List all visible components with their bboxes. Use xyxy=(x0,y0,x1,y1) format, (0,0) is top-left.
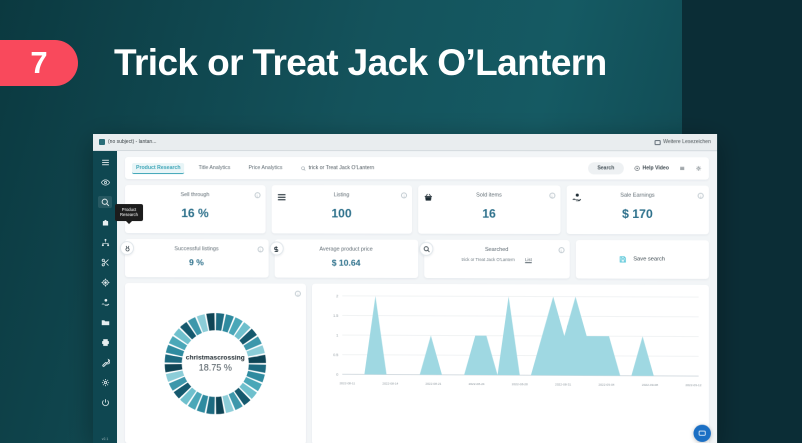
stat-card-sale-earnings[interactable]: Sale Earnings i $ 170 xyxy=(566,186,709,235)
stat-value: 16 xyxy=(424,207,554,221)
target-icon xyxy=(100,278,109,287)
hamburger-menu-icon xyxy=(100,158,109,167)
sidebar-item-shop[interactable] xyxy=(98,216,112,228)
x-tick-label: 2022-08-28 xyxy=(512,382,528,386)
browser-tab[interactable]: (no subject) - lantan... xyxy=(99,139,156,145)
favicon-icon xyxy=(99,139,105,145)
sidebar-item-product-research[interactable] xyxy=(98,196,112,208)
tab-product-research[interactable]: Product Research xyxy=(132,163,185,174)
stat-card-sold-items[interactable]: Sold items i 16 xyxy=(418,185,560,234)
x-tick-label: 2022-08-21 xyxy=(425,382,441,386)
bag-icon xyxy=(100,218,109,227)
stats-row-2: Successful listings i 9 % Average produc… xyxy=(125,239,709,279)
save-search-label: Save search xyxy=(633,256,665,262)
other-bookmarks-label: Weitere Lesezeichen xyxy=(663,139,711,145)
stat-card-searched[interactable]: Searched i trick or Treat Jack O'Lantern… xyxy=(424,240,569,279)
sidebar-version: v2.1 xyxy=(102,437,109,441)
navbar: Product Research Title Analytics Price A… xyxy=(125,157,709,180)
average-price-lead-icon xyxy=(269,241,283,255)
grid-line xyxy=(342,335,698,337)
stat-value: 16 % xyxy=(131,206,259,220)
y-tick-label: 0 xyxy=(336,373,338,377)
searched-subrow: trick or Treat Jack O'Lantern List xyxy=(430,257,563,262)
sidebar-item-tools[interactable] xyxy=(98,256,112,268)
searched-query: trick or Treat Jack O'Lantern xyxy=(462,257,515,262)
basket-icon xyxy=(423,192,433,202)
dollar-icon xyxy=(273,245,280,252)
tab-price-analytics[interactable]: Price Analytics xyxy=(244,163,286,173)
grid-line xyxy=(342,296,698,297)
y-tick-label: 1 xyxy=(336,333,338,337)
stat-title: Successful listings xyxy=(131,246,262,252)
donut-chart: christmascrossing 18.75 % xyxy=(161,309,270,418)
x-tick-label: 2022-08-24 xyxy=(469,382,485,386)
y-tick-label: 2 xyxy=(336,294,338,298)
browser-top-bar: (no subject) - lantan... Weitere Lesezei… xyxy=(93,134,717,151)
power-icon xyxy=(100,398,109,407)
list-icon xyxy=(276,192,286,202)
x-tick-label: 2022-09-04 xyxy=(598,383,614,387)
stat-value: 100 xyxy=(277,206,406,220)
info-icon[interactable]: i xyxy=(254,192,260,198)
sidebar-item-earnings[interactable] xyxy=(98,296,112,308)
stat-title: Sold items xyxy=(424,192,554,198)
info-icon[interactable]: i xyxy=(558,247,564,253)
info-icon[interactable]: i xyxy=(549,193,555,199)
stat-title: Sale Earnings xyxy=(572,193,702,199)
magnifier-icon xyxy=(423,245,430,252)
page-title: Trick or Treat Jack O’Lantern xyxy=(114,42,607,84)
tab-title-analytics[interactable]: Title Analytics xyxy=(195,163,235,173)
search-input[interactable]: trick or Treat Jack O'Lantern xyxy=(301,165,578,171)
search-button[interactable]: Search xyxy=(588,162,623,174)
sidebar-item-overview[interactable] xyxy=(98,176,112,188)
chat-icon xyxy=(698,429,707,438)
magnifier-icon xyxy=(100,198,109,207)
hand-coin-icon xyxy=(571,193,581,203)
sidebar-item-targeting[interactable] xyxy=(98,276,112,288)
stat-title: Listing xyxy=(277,192,406,198)
hand-coin-icon xyxy=(100,298,109,307)
gear-icon xyxy=(696,165,702,171)
main-content: Product Research Title Analytics Price A… xyxy=(117,151,717,443)
folder-icon xyxy=(655,140,661,145)
settings-button[interactable] xyxy=(696,165,702,171)
help-video-label: Help Video xyxy=(643,165,669,171)
info-icon[interactable]: i xyxy=(295,291,301,297)
x-tick-label: 2022-09-08 xyxy=(642,383,658,387)
sold-items-lead-icon xyxy=(423,192,433,202)
other-bookmarks-button[interactable]: Weitere Lesezeichen xyxy=(655,139,711,145)
donut-chart-card[interactable]: i christmascrossing 18.75 % xyxy=(125,283,306,443)
sidebar-item-settings[interactable] xyxy=(98,356,112,368)
x-tick-label: 2022-08-31 xyxy=(555,382,571,386)
title-row: 7 Trick or Treat Jack O’Lantern xyxy=(0,34,607,92)
grid-line xyxy=(342,315,698,316)
sidebar-item-files[interactable] xyxy=(98,316,112,328)
searched-list-link[interactable]: List xyxy=(525,257,532,262)
eye-icon xyxy=(100,178,109,187)
area-chart-card[interactable]: 00.511.52 2022-08-112022-08-142022-08-21… xyxy=(312,284,709,443)
stat-title: Sell through xyxy=(131,192,259,198)
search-input-value: trick or Treat Jack O'Lantern xyxy=(309,165,375,171)
area-y-axis: 00.511.52 xyxy=(333,294,338,376)
sale-earnings-lead-icon xyxy=(571,193,581,203)
sidebar-item-menu[interactable] xyxy=(98,156,112,168)
area-chart-svg: 00.511.52 2022-08-112022-08-142022-08-21… xyxy=(316,290,703,397)
info-icon[interactable]: i xyxy=(401,192,407,198)
stat-title: Average product price xyxy=(280,246,412,252)
wrench-icon xyxy=(100,358,109,367)
x-tick-label: 2022-08-14 xyxy=(382,382,398,386)
sidebar-tooltip: Product Research xyxy=(115,204,143,221)
medal-icon xyxy=(124,245,131,252)
list-view-button[interactable] xyxy=(679,165,685,171)
sidebar-item-logout[interactable] xyxy=(98,396,112,408)
x-tick-label: 2022-08-11 xyxy=(339,381,355,385)
listing-lead-icon xyxy=(276,192,286,202)
gear-icon xyxy=(100,378,109,387)
sidebar-item-preferences[interactable] xyxy=(98,376,112,388)
searched-lead-icon xyxy=(419,242,433,256)
x-tick-label: 2022-09-12 xyxy=(685,383,701,387)
stat-card-average-product-price[interactable]: Average product price $ 10.64 xyxy=(274,239,418,278)
info-icon[interactable]: i xyxy=(257,246,263,252)
help-video-button[interactable]: Help Video xyxy=(634,165,669,171)
donut-chart-svg xyxy=(161,309,270,418)
successful-listings-lead-icon xyxy=(120,241,134,255)
stat-card-listing[interactable]: Listing i 100 xyxy=(271,185,412,233)
scissors-icon xyxy=(100,258,109,267)
printer-icon xyxy=(100,338,109,347)
info-icon[interactable]: i xyxy=(698,193,704,199)
app-body: v2.1 Product Research Product Research T… xyxy=(93,151,717,443)
y-tick-label: 0.5 xyxy=(333,353,338,357)
area-x-axis: 2022-08-112022-08-142022-08-212022-08-24… xyxy=(339,381,701,387)
search-icon xyxy=(301,166,306,171)
searched-title: Searched xyxy=(430,247,563,253)
stats-row-1: Sell through i 16 % Listing i 100 xyxy=(125,185,709,234)
stat-value: $ 10.64 xyxy=(280,257,412,267)
browser-window: (no subject) - lantan... Weitere Lesezei… xyxy=(93,134,717,443)
play-circle-icon xyxy=(634,165,640,171)
y-tick-label: 1.5 xyxy=(333,314,338,318)
sidebar-item-print[interactable] xyxy=(98,336,112,348)
stat-value: $ 170 xyxy=(572,207,702,221)
stat-value: 9 % xyxy=(131,257,262,267)
rank-badge: 7 xyxy=(0,40,78,86)
browser-tab-title: (no subject) - lantan... xyxy=(108,139,156,145)
charts-row: i christmascrossing 18.75 % xyxy=(125,283,709,443)
hierarchy-icon xyxy=(100,238,109,247)
stat-card-sell-through[interactable]: Sell through i 16 % xyxy=(125,185,265,233)
sidebar-item-categories[interactable] xyxy=(98,236,112,248)
stat-card-successful-listings[interactable]: Successful listings i 9 % xyxy=(125,239,268,277)
list-icon xyxy=(679,165,685,171)
folder-icon xyxy=(100,318,109,327)
sidebar: v2.1 Product Research xyxy=(93,151,117,443)
save-search-button[interactable]: Save search xyxy=(575,240,709,279)
save-disk-icon xyxy=(619,255,627,263)
chat-widget-button[interactable] xyxy=(693,425,710,442)
